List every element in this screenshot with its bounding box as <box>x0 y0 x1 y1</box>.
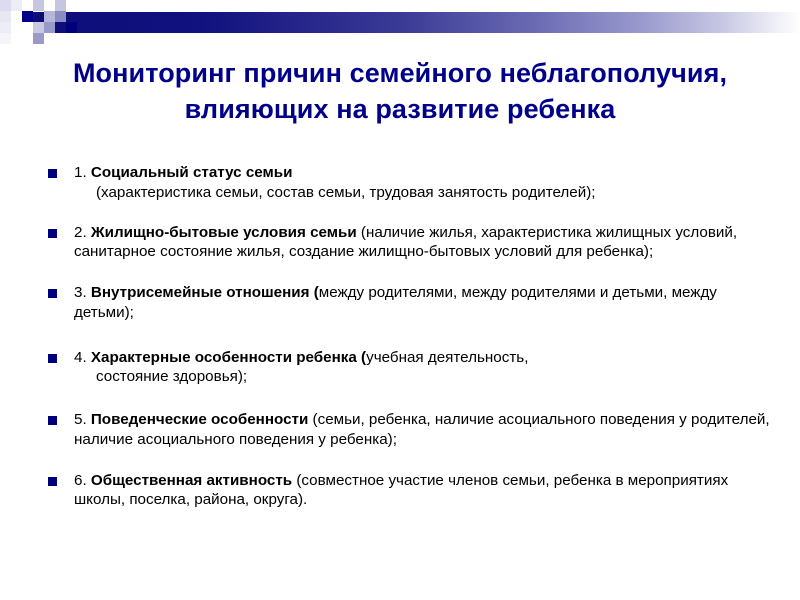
list-item-text: 2. Жилищно-бытовые условия семьи (наличи… <box>74 223 776 263</box>
slide-title-line-2: влияющих на развитие ребенка <box>40 92 760 128</box>
square-bullet-icon <box>48 169 57 178</box>
decorative-square <box>0 0 11 11</box>
square-bullet-icon <box>48 354 57 363</box>
list-item-heading: Характерные особенности ребенка ( <box>91 349 366 366</box>
decorative-square <box>44 11 55 22</box>
slide-title: Мониторинг причин семейного неблагополуч… <box>40 56 760 127</box>
square-bullet-icon <box>48 229 57 238</box>
list-item: 2. Жилищно-бытовые условия семьи (наличи… <box>46 223 776 263</box>
decorative-square <box>55 0 66 11</box>
list-item-body: учебная деятельность, <box>366 349 528 366</box>
list-item-number: 1. <box>74 164 91 181</box>
square-bullet-icon <box>48 289 57 298</box>
slide-header-decoration <box>0 0 800 52</box>
list-item-heading: Поведенческие особенности <box>91 411 308 428</box>
list-item: 4. Характерные особенности ребенка (учеб… <box>46 348 776 388</box>
decorative-square <box>0 22 11 33</box>
decorative-square <box>33 33 44 44</box>
square-bullet-icon <box>48 416 57 425</box>
list-item-heading: Социальный статус семьи <box>91 164 293 181</box>
list-item: 6. Общественная активность (совместное у… <box>46 471 776 511</box>
list-item-text: 6. Общественная активность (совместное у… <box>74 471 776 511</box>
decorative-square <box>22 0 33 11</box>
list-item-number: 2. <box>74 224 91 241</box>
decorative-square <box>0 33 11 44</box>
list-item-number: 3. <box>74 284 91 301</box>
header-gradient-band <box>33 12 800 33</box>
decorative-square <box>11 0 22 11</box>
decorative-square <box>44 22 55 33</box>
decorative-square <box>55 11 66 22</box>
list-item-text: 4. Характерные особенности ребенка (учеб… <box>74 348 776 388</box>
list-item-heading: Общественная активность <box>91 472 292 489</box>
decorative-square <box>0 11 11 22</box>
bullet-list: 1. Социальный статус семьи (характеристи… <box>46 163 776 510</box>
list-item: 3. Внутрисемейные отношения (между родит… <box>46 283 776 323</box>
list-item-heading: Внутрисемейные отношения ( <box>91 284 319 301</box>
list-item-number: 4. <box>74 349 91 366</box>
presentation-slide: Мониторинг причин семейного неблагополуч… <box>0 0 800 600</box>
list-item-number: 5. <box>74 411 91 428</box>
list-item-text: 3. Внутрисемейные отношения (между родит… <box>74 283 776 323</box>
decorative-square <box>22 11 33 22</box>
list-item-second-line: состояние здоровья); <box>74 367 776 387</box>
list-item-text: 5. Поведенческие особенности (семьи, реб… <box>74 410 776 450</box>
list-item: 5. Поведенческие особенности (семьи, реб… <box>46 410 776 450</box>
list-item-second-line: (характеристика семьи, состав семьи, тру… <box>74 183 776 203</box>
list-item-text: 1. Социальный статус семьи (характеристи… <box>74 163 776 203</box>
decorative-square <box>33 0 44 11</box>
decorative-square <box>44 0 55 11</box>
list-item: 1. Социальный статус семьи (характеристи… <box>46 163 776 203</box>
decorative-square <box>33 22 44 33</box>
decorative-square <box>66 22 77 33</box>
square-bullet-icon <box>48 477 57 486</box>
slide-title-line-1: Мониторинг причин семейного неблагополуч… <box>73 58 727 88</box>
list-item-heading: Жилищно-бытовые условия семьи <box>91 224 357 241</box>
list-item-number: 6. <box>74 472 91 489</box>
